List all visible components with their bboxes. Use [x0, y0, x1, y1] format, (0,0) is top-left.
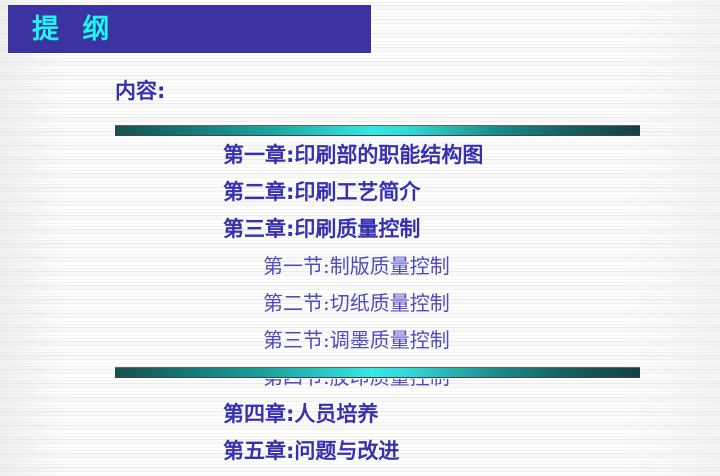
outline-chapter-item: 第一章:印刷部的职能结构图 [223, 145, 483, 166]
slide-title-banner: 提 纲 [8, 5, 371, 53]
outline-section-item: 第二节:切纸质量控制 [263, 293, 450, 313]
outline-section-item: 第一节:制版质量控制 [263, 256, 450, 276]
divider-rule-top [115, 125, 640, 136]
outline-chapter-item: 第五章:问题与改进 [223, 441, 399, 462]
divider-rule-bottom [115, 367, 640, 378]
outline-chapter-item: 第二章:印刷工艺简介 [223, 182, 420, 203]
content-heading: 内容: [115, 81, 165, 102]
slide-body: 内容: 第一章:印刷部的职能结构图第二章:印刷工艺简介第三章:印刷质量控制第一节… [0, 53, 720, 476]
slide-title: 提 纲 [8, 16, 116, 43]
outline-chapter-item: 第三章:印刷质量控制 [223, 219, 420, 240]
outline-chapter-item: 第四章:人员培养 [223, 404, 378, 425]
outline-section-item: 第三节:调墨质量控制 [263, 330, 450, 350]
slide-canvas: 提 纲 内容: 第一章:印刷部的职能结构图第二章:印刷工艺简介第三章:印刷质量控… [0, 0, 720, 476]
